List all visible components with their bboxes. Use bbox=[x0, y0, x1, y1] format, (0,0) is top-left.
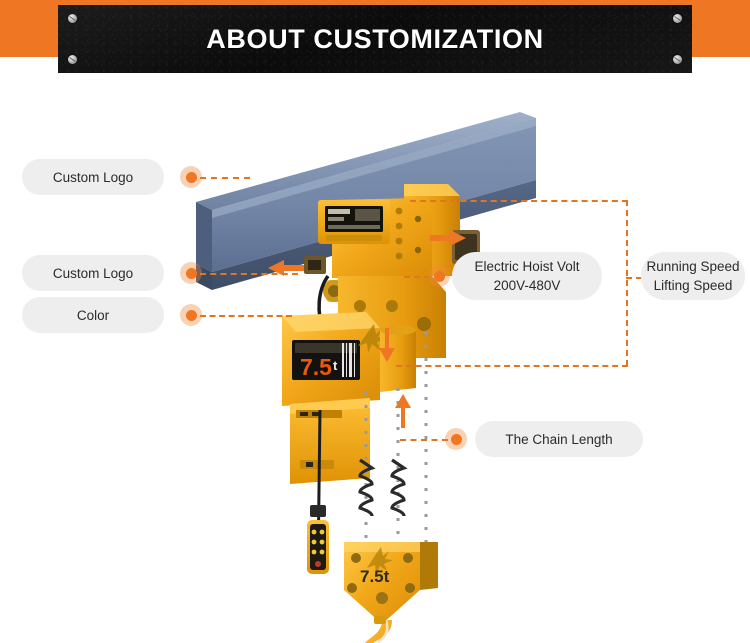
callout-label-line2: Lifting Speed bbox=[654, 276, 733, 295]
callout-label: The Chain Length bbox=[505, 430, 612, 449]
callout-chain-length[interactable]: The Chain Length bbox=[475, 421, 643, 457]
callout-custom-logo-mid[interactable]: Custom Logo bbox=[22, 255, 164, 291]
page-title: ABOUT CUSTOMIZATION bbox=[206, 24, 543, 55]
marker-dot-color[interactable] bbox=[180, 304, 202, 326]
connector-speed-top bbox=[410, 200, 628, 202]
callout-label: Custom Logo bbox=[53, 264, 133, 283]
hook-block-capacity-label: 7.5t bbox=[360, 567, 390, 586]
connector-speed-stub bbox=[626, 277, 642, 279]
hook-block: 7.5t bbox=[344, 542, 438, 643]
connector-electric-hoist-volt bbox=[404, 276, 430, 278]
screw-bottom-right-icon bbox=[673, 55, 682, 64]
callout-label-line1: Running Speed bbox=[646, 257, 739, 276]
connector-chain-length bbox=[400, 439, 448, 441]
callout-custom-logo-top[interactable]: Custom Logo bbox=[22, 159, 164, 195]
screw-top-left-icon bbox=[68, 14, 77, 23]
pendant-control-station bbox=[307, 505, 329, 574]
callout-label: Color bbox=[77, 306, 109, 325]
marker-dot-electric-hoist-volt[interactable] bbox=[428, 265, 450, 287]
screw-top-right-icon bbox=[673, 14, 682, 23]
customization-infographic: ABOUT CUSTOMIZATION bbox=[0, 0, 750, 643]
connector-custom-logo-mid bbox=[200, 273, 298, 275]
connector-color bbox=[200, 315, 292, 317]
capacity-badge-value: 7.5 bbox=[300, 354, 332, 380]
connector-custom-logo-top bbox=[200, 177, 250, 179]
capacity-badge-unit: t bbox=[333, 358, 338, 373]
callout-speed[interactable]: Running Speed Lifting Speed bbox=[641, 252, 745, 300]
header-plaque: ABOUT CUSTOMIZATION bbox=[58, 5, 692, 73]
callout-color[interactable]: Color bbox=[22, 297, 164, 333]
marker-dot-custom-logo-mid[interactable] bbox=[180, 262, 202, 284]
marker-dot-custom-logo-top[interactable] bbox=[180, 166, 202, 188]
callout-label-line2: 200V-480V bbox=[494, 276, 561, 295]
marker-dot-chain-length[interactable] bbox=[445, 428, 467, 450]
callout-label: Custom Logo bbox=[53, 168, 133, 187]
connector-speed-spine bbox=[626, 200, 628, 366]
callout-label-line1: Electric Hoist Volt bbox=[474, 257, 579, 276]
callout-electric-hoist-volt[interactable]: Electric Hoist Volt 200V-480V bbox=[452, 252, 602, 300]
connector-speed-bottom bbox=[396, 365, 628, 367]
screw-bottom-left-icon bbox=[68, 55, 77, 64]
